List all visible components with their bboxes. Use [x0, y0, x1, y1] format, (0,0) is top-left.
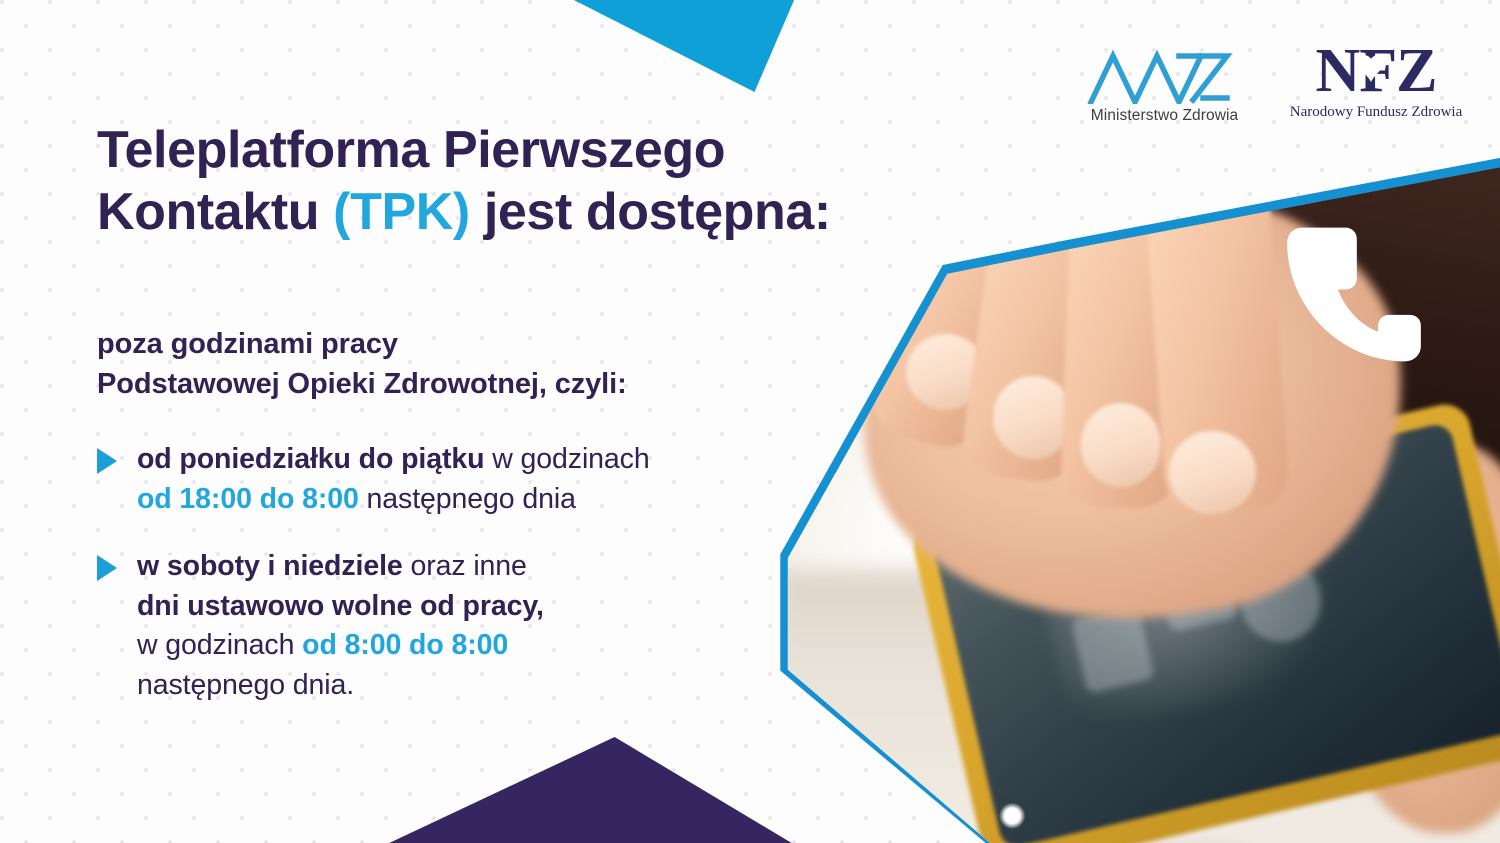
list-item: od poniedziałku do piątku w godzinach od… [97, 440, 887, 519]
bullet-1-hours: od 18:00 do 8:00 [137, 483, 359, 515]
text-content: Teleplatforma Pierwszego Kontaktu (TPK) … [97, 0, 927, 843]
subtitle-line-1: poza godzinami pracy [97, 328, 398, 360]
nfz-logo-caption: Narodowy Fundusz Zdrowia [1265, 104, 1487, 121]
triangle-bullet-icon [97, 555, 117, 581]
subtitle-line-2: Podstawowej Opieki Zdrowotnej, czyli: [97, 368, 627, 400]
list-item-text: od poniedziałku do piątku w godzinach od… [137, 440, 887, 519]
bullet-2-reg-3: następnego dnia. [137, 669, 354, 701]
bullet-1-reg-1: w godzinach [484, 443, 649, 475]
title-line-1: Teleplatforma Pierwszego [97, 121, 725, 179]
title-acronym: (TPK) [333, 183, 470, 241]
bullet-1-reg-2: następnego dnia [359, 483, 576, 515]
telephone-handset-icon [1283, 222, 1425, 374]
mz-zigzag-icon [1087, 48, 1243, 104]
bullet-1-bold-1: od poniedziałku do piątku [137, 443, 484, 475]
page-title: Teleplatforma Pierwszego Kontaktu (TPK) … [97, 120, 927, 244]
list-item-text: w soboty i niedziele oraz inne dni ustaw… [137, 547, 887, 705]
availability-list: od poniedziałku do piątku w godzinach od… [97, 440, 887, 734]
bullet-2-reg-1: oraz inne [403, 550, 527, 582]
poster-canvas: Ministerstwo Zdrowia NFZ Narodowy Fundus… [0, 0, 1500, 843]
title-line-2-pre: Kontaktu [97, 183, 333, 241]
bullet-2-bold-1: w soboty i niedziele [137, 550, 403, 582]
bullet-2-hours: od 8:00 do 8:00 [302, 629, 508, 661]
triangle-bullet-icon [97, 448, 117, 474]
subtitle: poza godzinami pracy Podstawowej Opieki … [97, 324, 857, 404]
title-line-2-post: jest dostępna: [470, 183, 831, 241]
nfz-logo: NFZ Narodowy Fundusz Zdrowia [1265, 40, 1487, 121]
list-item: w soboty i niedziele oraz inne dni ustaw… [97, 547, 887, 705]
ministry-of-health-logo: Ministerstwo Zdrowia [1072, 48, 1257, 125]
ministry-logo-caption: Ministerstwo Zdrowia [1072, 107, 1257, 125]
nfz-monogram-icon: NFZ [1283, 40, 1469, 102]
bullet-2-bold-2: dni ustawowo wolne od pracy, [137, 590, 544, 622]
logo-group: Ministerstwo Zdrowia NFZ Narodowy Fundus… [1060, 40, 1500, 140]
bullet-2-reg-2: w godzinach [137, 629, 302, 661]
